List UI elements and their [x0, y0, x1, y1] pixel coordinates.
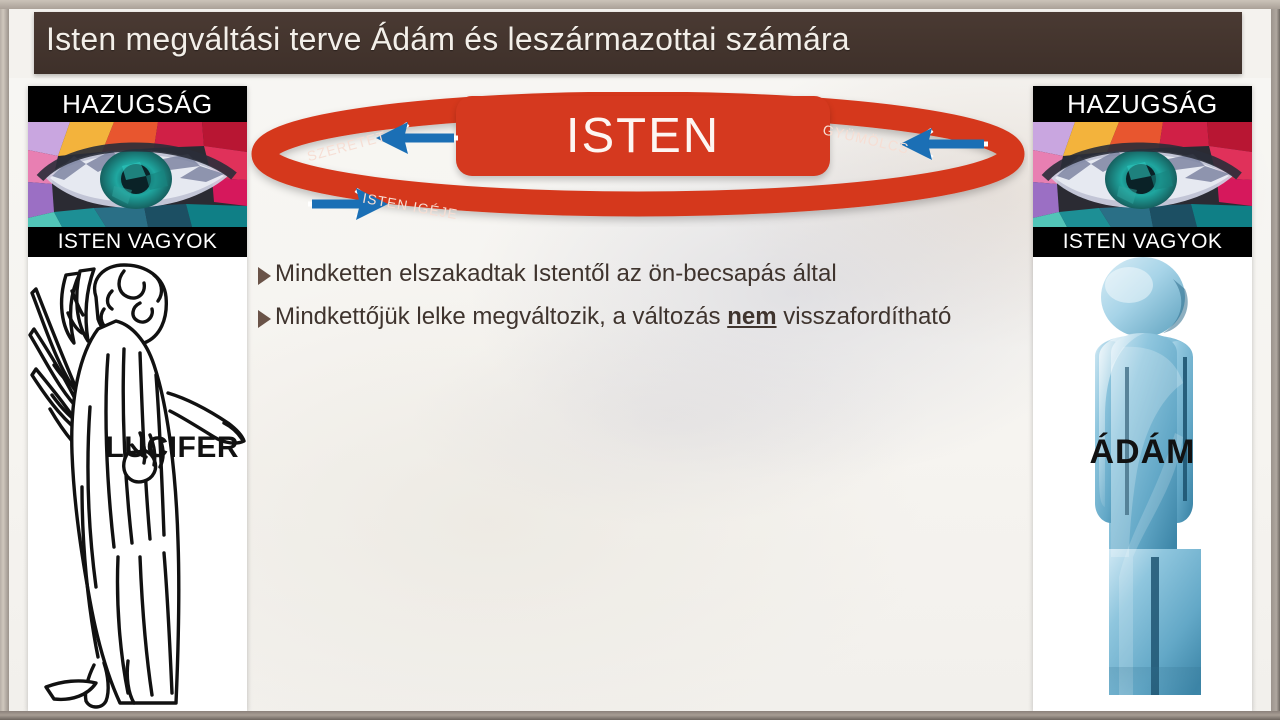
frame-bottom-edge	[0, 711, 1280, 720]
isten-label: ISTEN	[456, 96, 830, 176]
slide-title-bar: Isten megváltási terve Ádám és leszármaz…	[34, 12, 1242, 74]
bullet-triangle-icon	[258, 267, 271, 285]
right-banner-isten-vagyok: ISTEN VAGYOK	[1033, 227, 1252, 257]
bullet-item-1: Mindketten elszakadtak Istentől az ön-be…	[258, 258, 1018, 289]
left-banner-hazugsag: HAZUGSÁG	[28, 86, 247, 122]
frame-left-edge	[0, 0, 9, 720]
mosaic-eye-icon-right	[1033, 122, 1252, 227]
bullet-list: Mindketten elszakadtak Istentől az ön-be…	[258, 258, 1018, 344]
bullet-text-2: Mindkettőjük lelke megváltozik, a változ…	[275, 301, 951, 332]
left-banner-isten-vagyok: ISTEN VAGYOK	[28, 227, 247, 257]
bullet-2-post: visszafordítható	[777, 303, 952, 330]
frame-top-edge	[0, 0, 1280, 9]
lucifer-artwork: LUCIFER	[28, 257, 247, 712]
page-title: Isten megváltási terve Ádám és leszármaz…	[46, 21, 850, 58]
bullet-2-emphasis: nem	[727, 303, 776, 330]
right-figure-name: ÁDÁM	[1033, 433, 1252, 472]
left-figure-name: LUCIFER	[28, 431, 247, 465]
blue-person-icon	[1033, 257, 1252, 712]
bullet-text-1: Mindketten elszakadtak Istentől az ön-be…	[275, 258, 837, 289]
right-panel-adam: HAZUGSÁG	[1033, 86, 1252, 712]
isten-center-node: ISTEN	[456, 96, 830, 176]
background-wash-secondary	[300, 300, 1040, 600]
frame-right-edge	[1271, 0, 1280, 720]
bullet-item-2: Mindkettőjük lelke megváltozik, a változ…	[258, 301, 1018, 332]
bullet-triangle-icon	[258, 310, 271, 328]
angel-line-drawing-icon	[28, 257, 247, 712]
slide-canvas: Isten megváltási terve Ádám és leszármaz…	[0, 0, 1280, 720]
adam-artwork: ÁDÁM	[1033, 257, 1252, 712]
mosaic-eye-icon	[28, 122, 247, 227]
right-banner-hazugsag: HAZUGSÁG	[1033, 86, 1252, 122]
bullet-2-pre: Mindkettőjük lelke megváltozik, a változ…	[275, 303, 727, 330]
left-panel-lucifer: HAZUGSÁG	[28, 86, 247, 712]
